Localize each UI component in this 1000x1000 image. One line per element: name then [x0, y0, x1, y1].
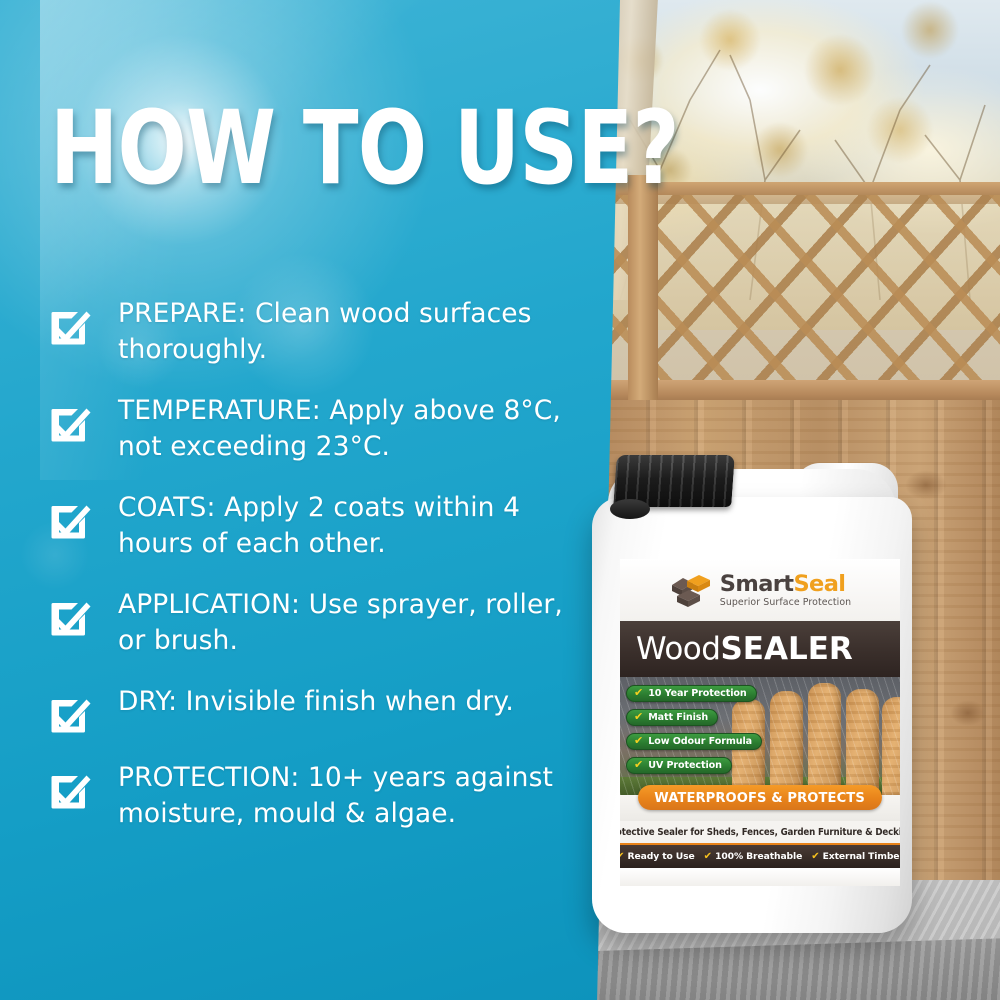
- feature-badge-label: UV Protection: [648, 760, 722, 771]
- product-description: Protective Sealer for Sheds, Fences, Gar…: [620, 827, 900, 838]
- footer-feature-label: 100% Breathable: [715, 851, 802, 862]
- footer-feature-label: External Timber: [823, 851, 900, 862]
- list-item: DRY: Invisible finish when dry.: [46, 684, 586, 734]
- wood-knot: [950, 700, 986, 726]
- checkbox-checked-icon: [46, 764, 92, 810]
- smartseal-blocks-icon: [669, 571, 713, 609]
- brand-logo-area: SmartSeal Superior Surface Protection: [620, 559, 900, 621]
- footer-feature: ✔ Ready to Use: [620, 851, 695, 862]
- feature-badge: ✔ Low Odour Formula: [626, 733, 762, 750]
- feature-badge-label: 10 Year Protection: [648, 688, 746, 699]
- feature-badge: ✔ UV Protection: [626, 757, 732, 774]
- list-item: APPLICATION: Use sprayer, roller, or bru…: [46, 587, 586, 658]
- check-icon: ✔: [634, 688, 643, 699]
- check-icon: ✔: [634, 736, 643, 747]
- product-title-sealer: SEALER: [720, 631, 852, 667]
- product-container: SmartSeal Superior Surface Protection Wo…: [568, 455, 918, 933]
- label-footer-features: ✔ Ready to Use ✔ 100% Breathable ✔ Exter…: [620, 845, 900, 868]
- check-icon: ✔: [634, 760, 643, 771]
- list-item-label: TEMPERATURE: Apply above 8°C, not exceed…: [118, 393, 578, 464]
- list-item-label: COATS: Apply 2 coats within 4 hours of e…: [118, 490, 578, 561]
- checkbox-checked-icon: [46, 397, 92, 443]
- feature-badge-list: ✔ 10 Year Protection ✔ Matt Finish ✔ Low…: [626, 685, 778, 781]
- label-fence-scene: ✔ 10 Year Protection ✔ Matt Finish ✔ Low…: [620, 677, 900, 795]
- list-item-label: PROTECTION: 10+ years against moisture, …: [118, 760, 578, 831]
- list-item-label: PREPARE: Clean wood surfaces thoroughly.: [118, 296, 578, 367]
- product-description-row: Protective Sealer for Sheds, Fences, Gar…: [620, 821, 900, 845]
- check-icon: ✔: [620, 852, 625, 862]
- list-item: COATS: Apply 2 coats within 4 hours of e…: [46, 490, 586, 561]
- brand-name-smart: Smart: [720, 571, 794, 597]
- bottle-cap-ring: [610, 499, 650, 519]
- feature-badge-label: Low Odour Formula: [648, 736, 752, 747]
- lattice-trellis: [612, 195, 1000, 395]
- checkbox-checked-icon: [46, 591, 92, 637]
- brand-name-seal: Seal: [793, 571, 845, 597]
- poster-canvas: HOW TO USE? PREPARE: Clean wood surfaces…: [0, 0, 1000, 1000]
- brand-tagline: Superior Surface Protection: [720, 598, 851, 607]
- list-item: TEMPERATURE: Apply above 8°C, not exceed…: [46, 393, 586, 464]
- page-title: HOW TO USE?: [50, 98, 498, 200]
- brand-name: SmartSeal: [720, 573, 851, 596]
- waterproofs-banner-label: WATERPROOFS & PROTECTS: [655, 790, 866, 806]
- check-icon: ✔: [634, 712, 643, 723]
- footer-feature: ✔ External Timber: [811, 851, 900, 862]
- list-item-label: APPLICATION: Use sprayer, roller, or bru…: [118, 587, 578, 658]
- product-title-wood: Wood: [636, 631, 720, 667]
- waterproofs-banner: WATERPROOFS & PROTECTS: [638, 785, 882, 810]
- label-bottom-strip: [620, 868, 900, 886]
- list-item-label: DRY: Invisible finish when dry.: [118, 684, 514, 720]
- check-icon: ✔: [811, 852, 819, 862]
- product-title-band: WoodSEALER: [620, 621, 900, 677]
- list-item: PROTECTION: 10+ years against moisture, …: [46, 760, 586, 831]
- feature-badge-label: Matt Finish: [648, 712, 708, 723]
- banner-row: WATERPROOFS & PROTECTS: [620, 795, 900, 821]
- checkbox-checked-icon: [46, 494, 92, 540]
- checkbox-checked-icon: [46, 300, 92, 346]
- feature-badge: ✔ Matt Finish: [626, 709, 718, 726]
- steps-list: PREPARE: Clean wood surfaces thoroughly.…: [46, 296, 586, 831]
- list-item: PREPARE: Clean wood surfaces thoroughly.: [46, 296, 586, 367]
- fence-post: [628, 175, 658, 410]
- product-label: SmartSeal Superior Surface Protection Wo…: [620, 559, 900, 886]
- footer-feature: ✔ 100% Breathable: [704, 851, 803, 862]
- check-icon: ✔: [704, 852, 712, 862]
- feature-badge: ✔ 10 Year Protection: [626, 685, 757, 702]
- footer-feature-label: Ready to Use: [628, 851, 695, 862]
- checkbox-checked-icon: [46, 688, 92, 734]
